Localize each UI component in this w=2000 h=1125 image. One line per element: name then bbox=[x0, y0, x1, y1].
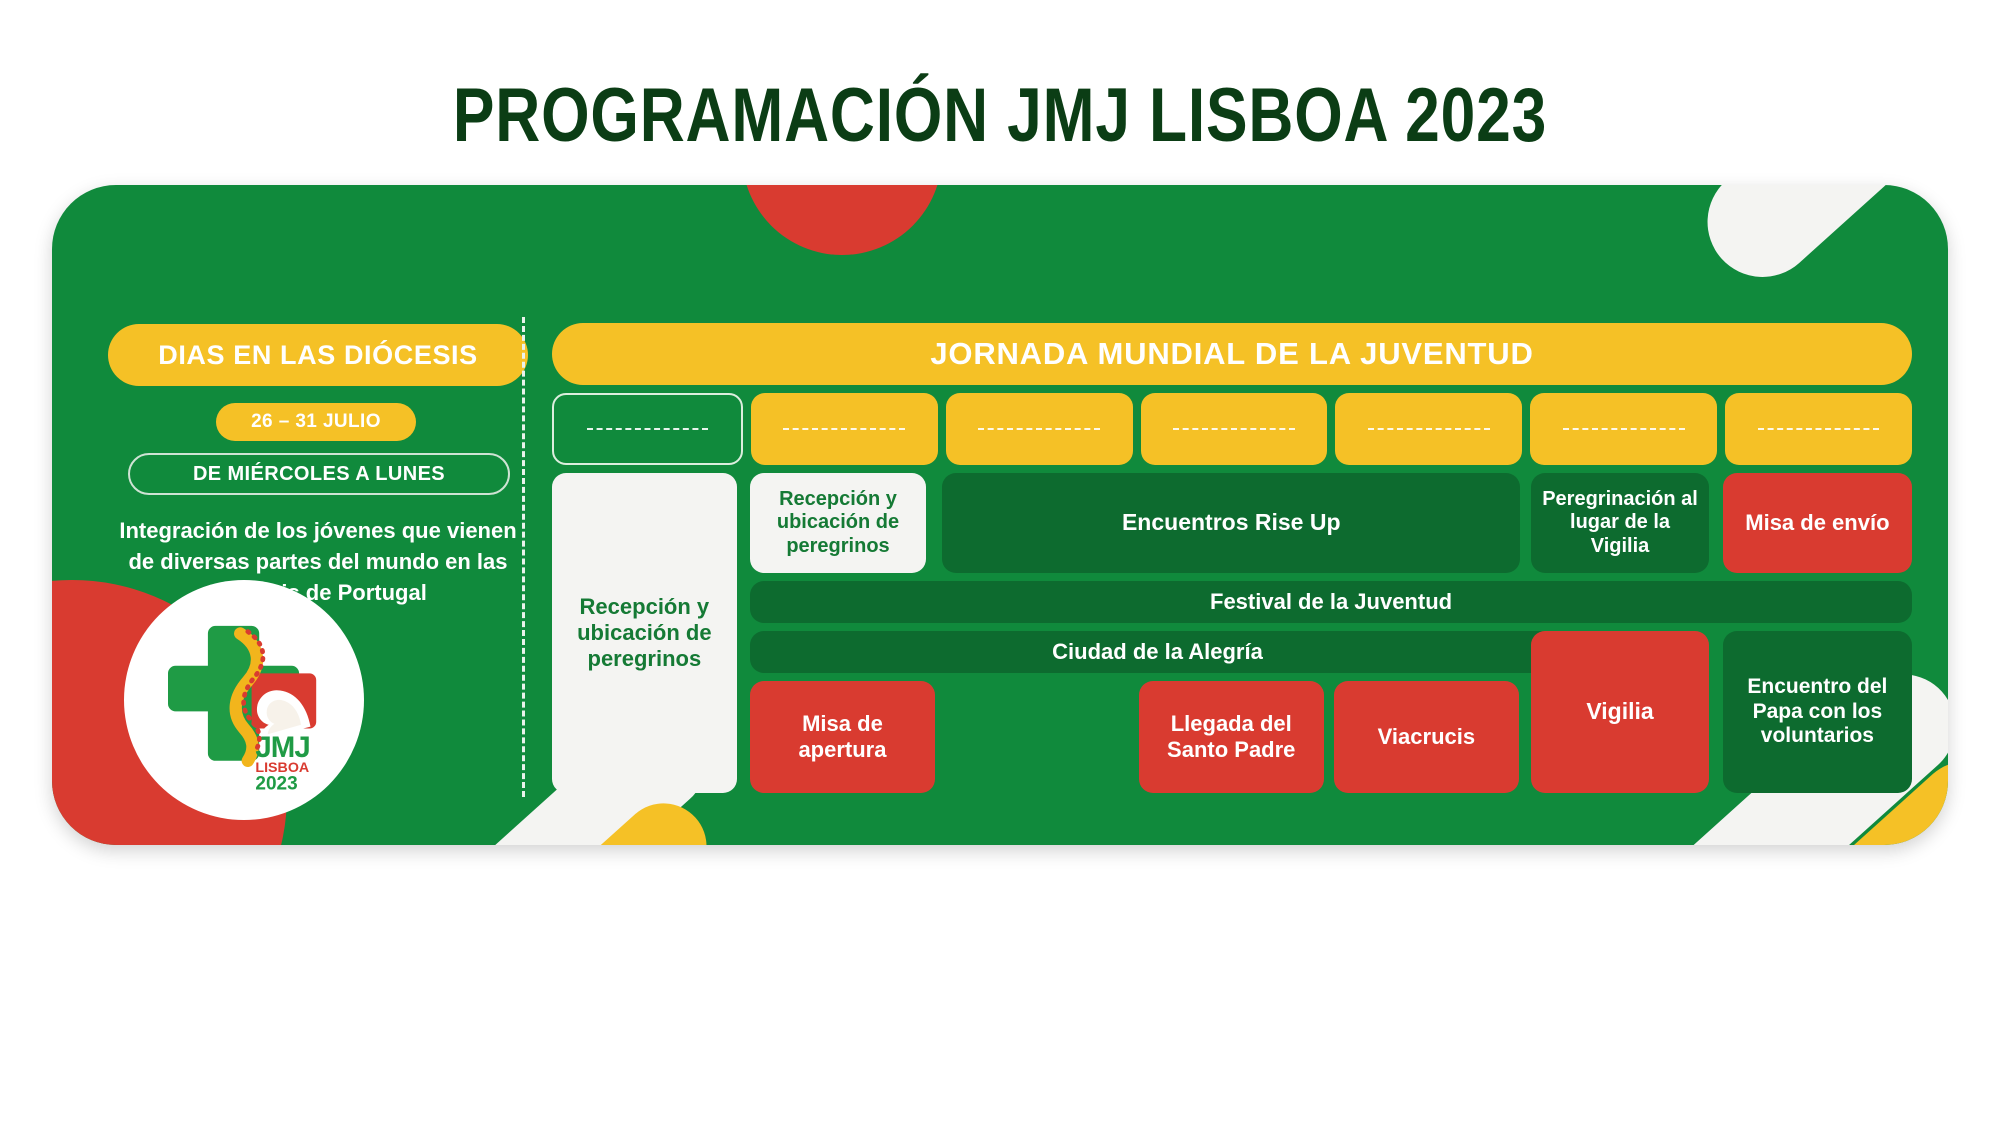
dioceses-heading: DIAS EN LAS DIÓCESIS bbox=[108, 324, 528, 386]
day-divider bbox=[978, 428, 1100, 430]
day-header-jueves[interactable] bbox=[1141, 393, 1328, 465]
event-label: Misa de envío bbox=[1745, 510, 1889, 536]
day-divider bbox=[783, 428, 905, 430]
day-divider bbox=[587, 428, 709, 430]
event-cell[interactable]: Vigilia bbox=[1531, 631, 1710, 793]
event-cell[interactable]: Recepción y ubicación de peregrinos bbox=[750, 473, 926, 573]
event-cell[interactable]: Encuentros Rise Up bbox=[942, 473, 1520, 573]
event-grid: Recepción y ubicación de peregrinosRecep… bbox=[552, 473, 1912, 793]
dioceses-description: Integración de los jóvenes que vienen de… bbox=[118, 515, 518, 608]
day-header-viernes[interactable] bbox=[1335, 393, 1522, 465]
infographic-page: PROGRAMACIÓN JMJ LISBOA 2023 DIAS EN LAS… bbox=[0, 0, 2000, 1125]
schedule-heading: JORNADA MUNDIAL DE LA JUVENTUD bbox=[552, 323, 1912, 385]
event-cell[interactable]: Llegada del Santo Padre bbox=[1139, 681, 1324, 793]
event-label: Recepción y ubicación de peregrinos bbox=[560, 594, 729, 672]
event-label: Misa de apertura bbox=[758, 711, 927, 763]
day-header-miércoles[interactable] bbox=[946, 393, 1133, 465]
event-cell[interactable]: Misa de envío bbox=[1723, 473, 1912, 573]
day-header-domingo[interactable] bbox=[1725, 393, 1912, 465]
jmj-schedule: JORNADA MUNDIAL DE LA JUVENTUD Recepción… bbox=[552, 185, 1912, 845]
event-label: Encuentros Rise Up bbox=[1122, 509, 1341, 536]
dioceses-range-badge: DE MIÉRCOLES A LUNES bbox=[128, 453, 510, 495]
event-label: Llegada del Santo Padre bbox=[1147, 711, 1316, 763]
event-cell[interactable]: Recepción y ubicación de peregrinos bbox=[552, 473, 737, 793]
day-header-martes[interactable] bbox=[751, 393, 938, 465]
page-title: PROGRAMACIÓN JMJ LISBOA 2023 bbox=[180, 72, 1820, 159]
day-divider bbox=[1758, 428, 1880, 430]
day-divider bbox=[1563, 428, 1685, 430]
event-label: Peregrinación al lugar de la Vigilia bbox=[1539, 488, 1702, 559]
jmj-logo-icon: JMJ LISBOA 2023 bbox=[149, 605, 339, 795]
event-cell[interactable]: Ciudad de la Alegría bbox=[750, 631, 1565, 673]
schedule-card: DIAS EN LAS DIÓCESIS 26 – 31 JULIO DE MI… bbox=[52, 185, 1948, 845]
event-label: Festival de la Juventud bbox=[1210, 589, 1452, 615]
day-header-sábado[interactable] bbox=[1530, 393, 1717, 465]
event-cell[interactable]: Festival de la Juventud bbox=[750, 581, 1912, 623]
vertical-dashed-divider bbox=[522, 317, 525, 797]
event-label: Ciudad de la Alegría bbox=[1052, 639, 1263, 665]
dioceses-panel: DIAS EN LAS DIÓCESIS 26 – 31 JULIO DE MI… bbox=[108, 185, 528, 845]
event-cell[interactable]: Viacrucis bbox=[1334, 681, 1519, 793]
event-label: Viacrucis bbox=[1378, 724, 1475, 750]
svg-text:JMJ: JMJ bbox=[255, 731, 309, 764]
day-header-row bbox=[552, 393, 1912, 465]
day-header-lunes[interactable] bbox=[552, 393, 743, 465]
event-label: Vigilia bbox=[1586, 698, 1653, 725]
day-divider bbox=[1173, 428, 1295, 430]
event-cell[interactable]: Misa de apertura bbox=[750, 681, 935, 793]
jmj-logo: JMJ LISBOA 2023 bbox=[124, 580, 364, 820]
event-label: Recepción y ubicación de peregrinos bbox=[758, 488, 918, 559]
event-label: Encuentro del Papa con los voluntarios bbox=[1731, 675, 1904, 749]
dioceses-date-badge: 26 – 31 JULIO bbox=[216, 403, 416, 441]
svg-text:2023: 2023 bbox=[255, 773, 297, 794]
day-divider bbox=[1368, 428, 1490, 430]
event-cell[interactable]: Encuentro del Papa con los voluntarios bbox=[1723, 631, 1912, 793]
event-cell[interactable]: Peregrinación al lugar de la Vigilia bbox=[1531, 473, 1710, 573]
